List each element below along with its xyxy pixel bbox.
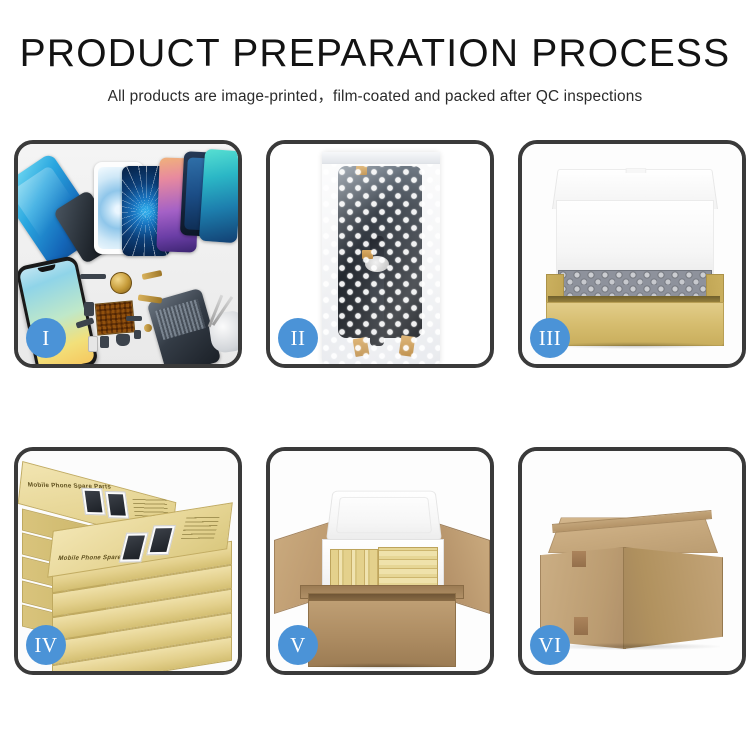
step-badge-2: II — [278, 318, 318, 358]
box-artwork-screen — [119, 532, 149, 562]
box-artwork-screen — [81, 488, 106, 516]
gold-component-image — [110, 272, 132, 294]
small-part-image — [80, 274, 106, 279]
small-part-image — [144, 324, 152, 332]
packing-tape-image — [574, 617, 588, 635]
page-title: PRODUCT PREPARATION PROCESS — [0, 34, 750, 75]
box-spec-lines — [181, 516, 220, 539]
teal-gradient-phone-image — [199, 149, 238, 243]
bag-seal-image — [322, 152, 440, 164]
foam-box-lid-image — [326, 491, 442, 541]
drop-shadow — [310, 663, 454, 669]
process-step-panel-5: V — [266, 447, 494, 675]
small-part-image — [88, 336, 98, 352]
step-badge-3: III — [530, 318, 570, 358]
carton-front-panel-image — [308, 593, 456, 667]
plastic-sheen-overlay — [322, 152, 440, 364]
process-step-panel-3: III — [518, 140, 746, 368]
drop-shadow — [544, 643, 720, 650]
small-part-image — [84, 302, 94, 316]
box-artwork-screen — [146, 525, 176, 555]
page-subtitle: All products are image-printed，film-coat… — [0, 84, 750, 106]
process-step-panel-1: I — [14, 140, 242, 368]
step-badge-1: I — [26, 318, 66, 358]
process-step-panel-4: Mobile Phone Spare Parts Mobile Phone Sp… — [14, 447, 242, 675]
packing-tape-image — [572, 551, 586, 567]
box-artwork-screen — [105, 491, 130, 519]
drop-shadow — [552, 342, 718, 349]
step-badge-6: VI — [530, 625, 570, 665]
page-header: PRODUCT PREPARATION PROCESS All products… — [0, 0, 750, 106]
small-part-image — [100, 336, 109, 348]
step-badge-4: IV — [26, 625, 66, 665]
process-step-panel-2: II — [266, 140, 494, 368]
small-part-image — [116, 334, 130, 346]
small-part-image — [126, 316, 142, 321]
white-foam-sheet-image — [556, 200, 714, 274]
small-part-image — [134, 330, 141, 339]
bubble-wrap-bag-image — [322, 152, 440, 364]
box-front-panel-image — [546, 302, 724, 346]
carton-right-face-image — [623, 547, 723, 649]
process-step-grid: I II — [14, 140, 736, 675]
step-badge-5: V — [278, 625, 318, 665]
process-step-panel-6: VI — [518, 447, 746, 675]
